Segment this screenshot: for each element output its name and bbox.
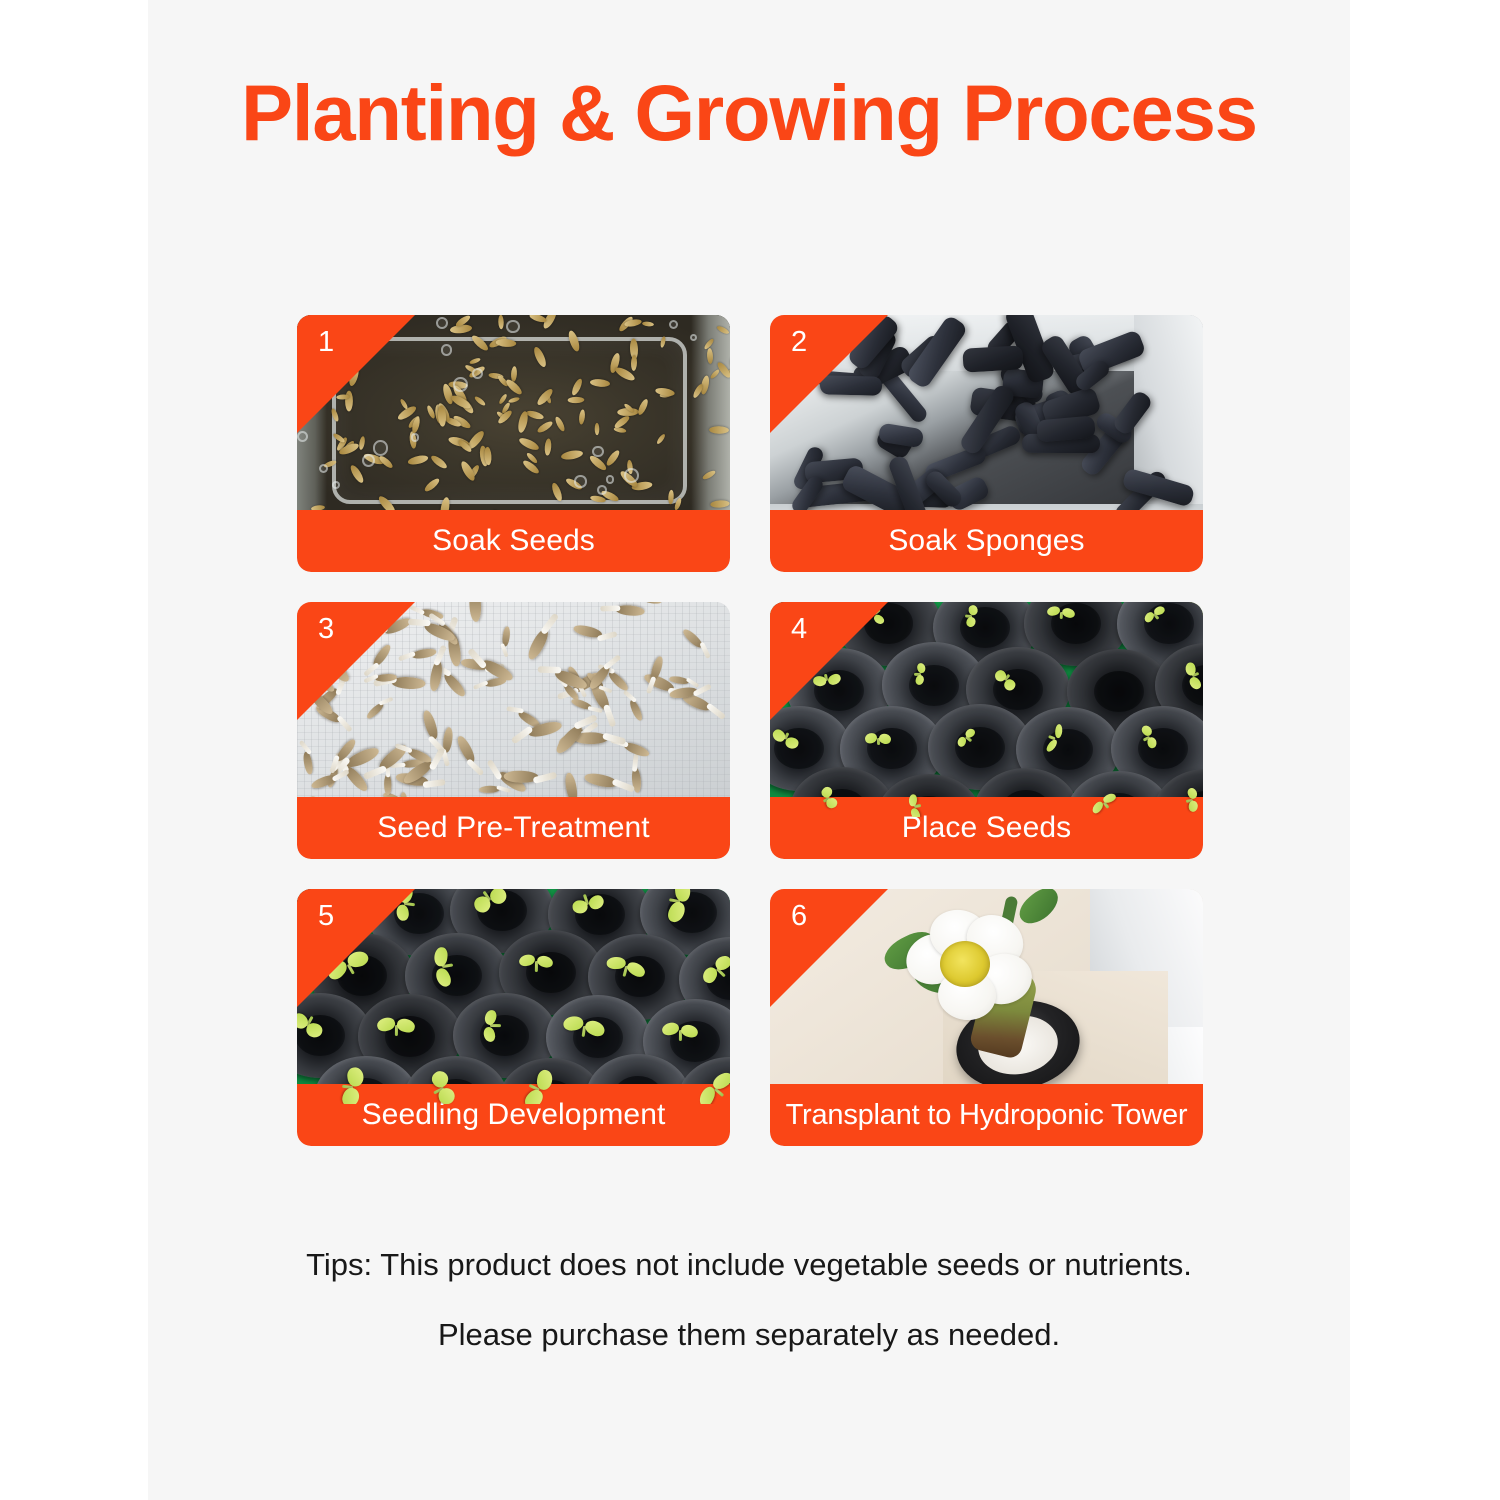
step-image-2 bbox=[770, 315, 1203, 530]
step-label-1: Soak Seeds bbox=[297, 510, 730, 572]
step-card-4[interactable]: 4 Place Seeds bbox=[770, 602, 1203, 859]
step-card-6[interactable]: 6 Transplant to Hydroponic Tower bbox=[770, 889, 1203, 1146]
process-steps-grid: 1 Soak Seeds 2 Soak Sponges bbox=[297, 315, 1203, 1146]
page-title: Planting & Growing Process bbox=[157, 66, 1341, 160]
step-label-3: Seed Pre-Treatment bbox=[297, 797, 730, 859]
step-card-3[interactable]: 3 Seed Pre-Treatment bbox=[297, 602, 730, 859]
tips-line-2: Please purchase them separately as neede… bbox=[148, 1300, 1350, 1370]
page-root: Planting & Growing Process 1 Soak Seeds bbox=[0, 0, 1500, 1500]
tips-block: Tips: This product does not include vege… bbox=[148, 1230, 1350, 1370]
step-image-3 bbox=[297, 602, 730, 817]
tips-line-1: Tips: This product does not include vege… bbox=[148, 1230, 1350, 1300]
step-image-6 bbox=[770, 889, 1203, 1104]
step-card-1[interactable]: 1 Soak Seeds bbox=[297, 315, 730, 572]
step-image-5 bbox=[297, 889, 730, 1104]
step-card-5[interactable]: 5 Seedling Development bbox=[297, 889, 730, 1146]
step-image-4 bbox=[770, 602, 1203, 817]
step-label-5: Seedling Development bbox=[297, 1084, 730, 1146]
step-image-1 bbox=[297, 315, 730, 530]
step-label-4: Place Seeds bbox=[770, 797, 1203, 859]
step-label-2: Soak Sponges bbox=[770, 510, 1203, 572]
step-label-6: Transplant to Hydroponic Tower bbox=[770, 1084, 1203, 1146]
step-card-2[interactable]: 2 Soak Sponges bbox=[770, 315, 1203, 572]
